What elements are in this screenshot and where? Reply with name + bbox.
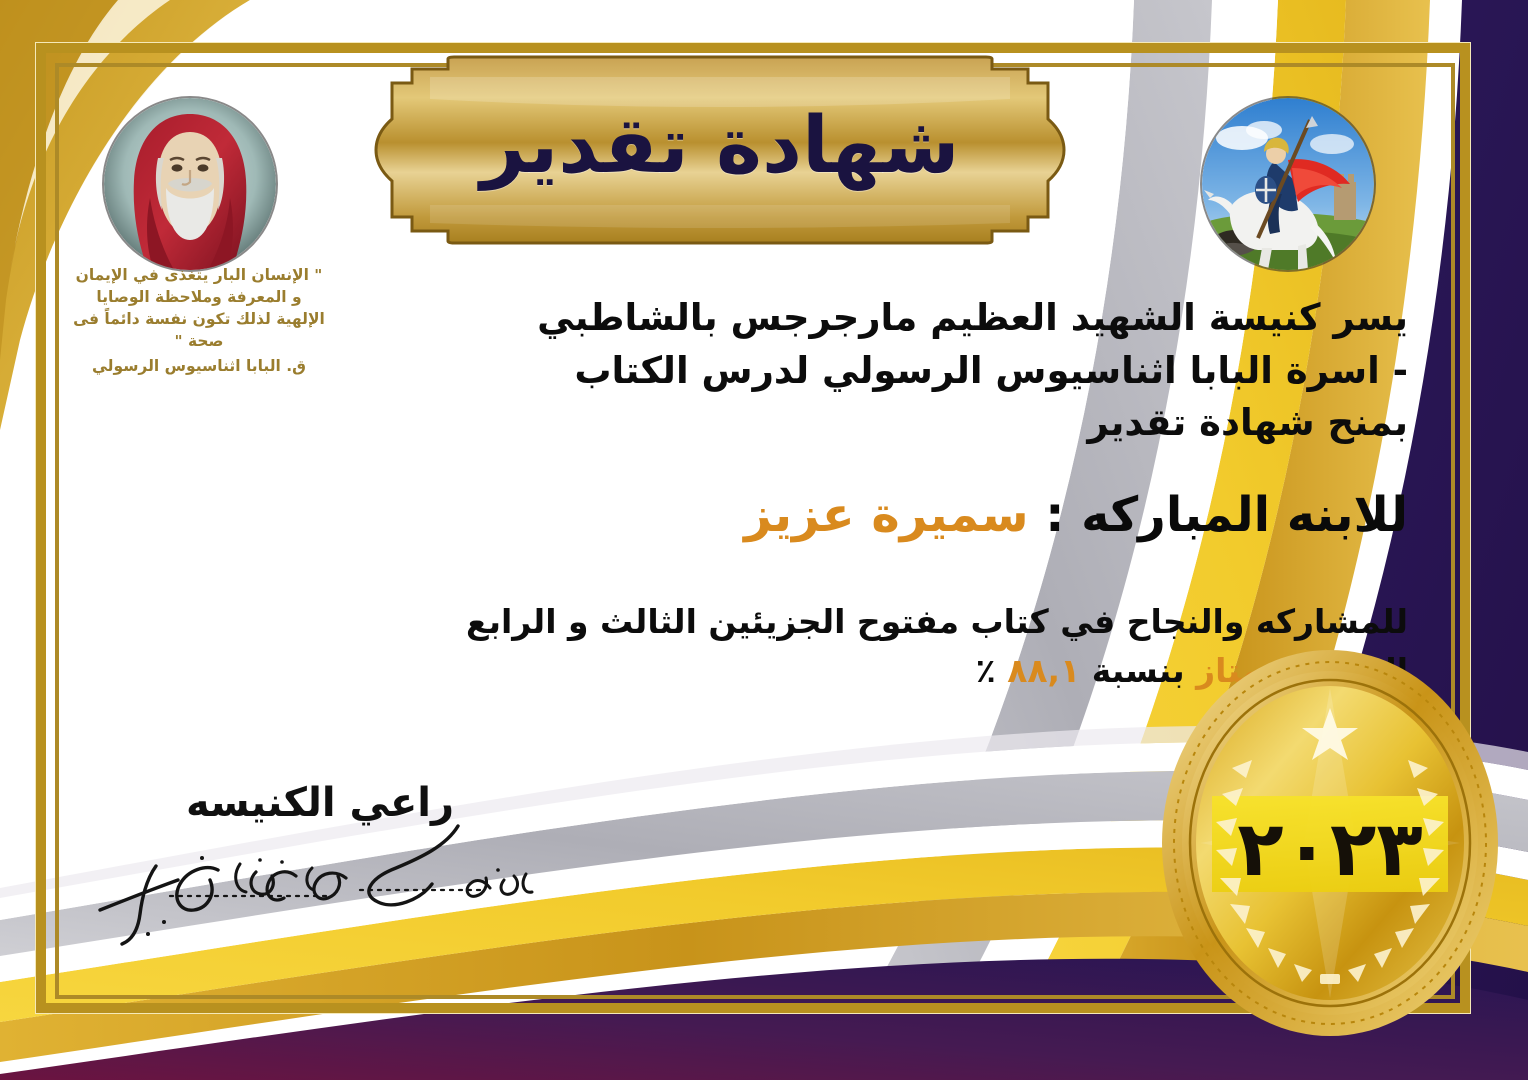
recipient-line: للابنه المباركه : سميرة عزيز [300,487,1408,545]
saint-athanasius-portrait-icon [104,98,276,270]
certificate-title: شهادة تقدير [370,55,1070,245]
body-line-3: بمنح شهادة تقدير [300,397,1408,450]
percent-value: ٨٨,١ [1007,651,1080,690]
saint-quote: " الإنسان البار يتغذى في الإيمان و المعر… [70,264,328,377]
certificate-body: يسر كنيسة الشهيد العظيم مارجرجس بالشاطبي… [300,292,1408,450]
recipient-name: سميرة عزيز [744,487,1028,543]
percent-symbol: ٪ [976,651,996,690]
seal-year: ٢٠٢٣ [1160,648,1500,1038]
recipient-label: للابنه المباركه : [1045,487,1408,543]
body-line-1: يسر كنيسة الشهيد العظيم مارجرجس بالشاطبي [300,292,1408,345]
certificate-canvas: شهادة تقدير [0,0,1528,1080]
gold-medal-seal-icon: ٢٠٢٣ [1160,648,1500,1038]
body-line-2: - اسرة البابا اثناسيوس الرسولي لدرس الكت… [300,345,1408,398]
saint-george-horseman-icon [1202,98,1374,270]
handwritten-signature-icon [60,818,580,948]
quote-attribution: ق. البابا اثناسيوس الرسولي [70,355,328,377]
title-plaque: شهادة تقدير [370,55,1070,245]
quote-text: " الإنسان البار يتغذى في الإيمان و المعر… [73,266,325,350]
achievement-description: للمشاركه والنجاح في كتاب مفتوح الجزيئين … [200,598,1408,647]
